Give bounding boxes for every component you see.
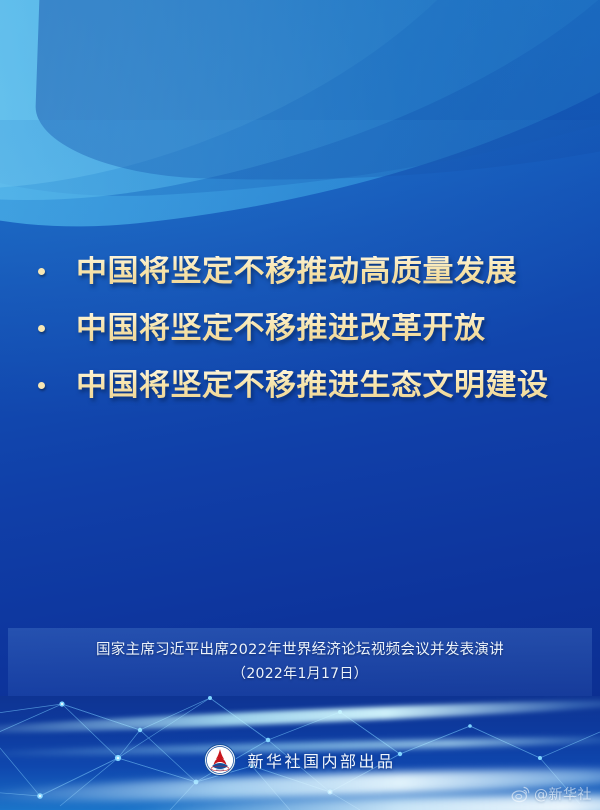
bullet-dot-icon — [38, 325, 45, 332]
caption-date: （2022年1月17日） — [8, 662, 592, 686]
list-item: 中国将坚定不移推进生态文明建设 — [0, 357, 600, 414]
background-ribbon-3 — [0, 0, 600, 280]
caption-headline: 国家主席习近平出席2022年世界经济论坛视频会议并发表演讲 — [8, 638, 592, 662]
bullet-text: 中国将坚定不移推进改革开放 — [76, 313, 486, 344]
footer-brand: 新华社国内部出品 — [0, 744, 600, 776]
bullet-dot-icon — [38, 382, 45, 389]
background-ribbon-4 — [0, 0, 600, 209]
list-item: 中国将坚定不移推进改革开放 — [0, 300, 600, 357]
background-ribbon-5 — [33, 0, 600, 207]
xinhua-news-agency-logo-icon — [204, 744, 236, 776]
list-item: 中国将坚定不移推动高质量发展 — [0, 243, 600, 300]
footer-brand-text: 新华社国内部出品 — [247, 748, 395, 772]
background-ribbon-1 — [0, 0, 600, 253]
weibo-watermark: @新华社 — [511, 784, 592, 804]
weibo-icon — [511, 785, 530, 804]
bullet-text: 中国将坚定不移推进生态文明建设 — [76, 370, 549, 401]
caption-band: 国家主席习近平出席2022年世界经济论坛视频会议并发表演讲 （2022年1月17… — [8, 628, 592, 696]
news-poster: 中国将坚定不移推动高质量发展 中国将坚定不移推进改革开放 中国将坚定不移推进生态… — [0, 0, 600, 810]
bullet-list: 中国将坚定不移推动高质量发展 中国将坚定不移推进改革开放 中国将坚定不移推进生态… — [0, 243, 600, 414]
background-ribbon-2 — [0, 0, 600, 259]
bullet-text: 中国将坚定不移推动高质量发展 — [76, 256, 517, 287]
bullet-dot-icon — [38, 268, 45, 275]
weibo-watermark-text: @新华社 — [534, 784, 592, 804]
